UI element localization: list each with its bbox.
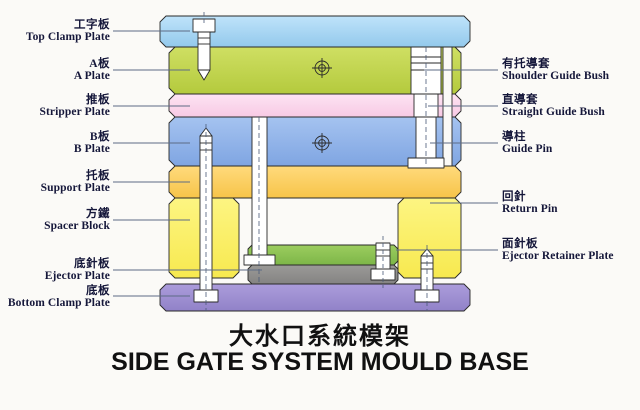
- label-en: Support Plate: [41, 182, 110, 194]
- plate-b-right-segment: [452, 117, 461, 166]
- label-en: Ejector Retainer Plate: [502, 250, 614, 262]
- mould-base-diagram-page: 工字板 Top Clamp Plate A板 A Plate 推板 Stripp…: [0, 0, 640, 410]
- label-return-pin: 回針 Return Pin: [502, 191, 558, 216]
- shoulder-guide-bush: [411, 47, 441, 94]
- label-ejector-retainer-plate: 面針板 Ejector Retainer Plate: [502, 238, 614, 263]
- plate-stripper: [169, 94, 443, 117]
- label-zh: 有托導套: [502, 58, 609, 70]
- plate-a-right-segment: [452, 47, 461, 94]
- label-en: B Plate: [74, 143, 110, 155]
- label-guide-pin: 導柱 Guide Pin: [502, 131, 552, 156]
- label-zh: 底針板: [45, 258, 110, 270]
- label-zh: 方鐵: [44, 208, 110, 220]
- label-zh: 直導套: [502, 94, 605, 106]
- label-en: Stripper Plate: [40, 106, 111, 118]
- label-top-clamp-plate: 工字板 Top Clamp Plate: [26, 19, 110, 44]
- label-straight-guide-bush: 直導套 Straight Guide Bush: [502, 94, 605, 119]
- label-en: Bottom Clamp Plate: [8, 297, 110, 309]
- title-chinese: 大水口系統模架: [0, 316, 640, 351]
- plate-stripper-right-segment: [452, 94, 461, 117]
- label-zh: 工字板: [26, 19, 110, 31]
- label-shoulder-guide-bush: 有托導套 Shoulder Guide Bush: [502, 58, 609, 83]
- plate-support: [169, 166, 461, 198]
- label-en: Guide Pin: [502, 143, 552, 155]
- label-zh: 面針板: [502, 238, 614, 250]
- label-en: Return Pin: [502, 203, 558, 215]
- label-zh: 底板: [8, 285, 110, 297]
- label-zh: 托板: [41, 170, 110, 182]
- label-zh: 回針: [502, 191, 558, 203]
- label-zh: 導柱: [502, 131, 552, 143]
- label-stripper-plate: 推板 Stripper Plate: [40, 94, 111, 119]
- label-a-plate: A板 A Plate: [74, 58, 110, 83]
- label-spacer-block: 方鐵 Spacer Block: [44, 208, 110, 233]
- label-en: Straight Guide Bush: [502, 106, 605, 118]
- label-en: Top Clamp Plate: [26, 31, 110, 43]
- label-zh: A板: [74, 58, 110, 70]
- label-ejector-plate: 底針板 Ejector Plate: [45, 258, 110, 283]
- label-en: Spacer Block: [44, 220, 110, 232]
- label-b-plate: B板 B Plate: [74, 131, 110, 156]
- label-en: Shoulder Guide Bush: [502, 70, 609, 82]
- label-en: Ejector Plate: [45, 270, 110, 282]
- label-bottom-clamp-plate: 底板 Bottom Clamp Plate: [8, 285, 110, 310]
- label-zh: B板: [74, 131, 110, 143]
- label-en: A Plate: [74, 70, 110, 82]
- label-zh: 推板: [40, 94, 111, 106]
- title-english: SIDE GATE SYSTEM MOULD BASE: [0, 348, 640, 377]
- label-support-plate: 托板 Support Plate: [41, 170, 110, 195]
